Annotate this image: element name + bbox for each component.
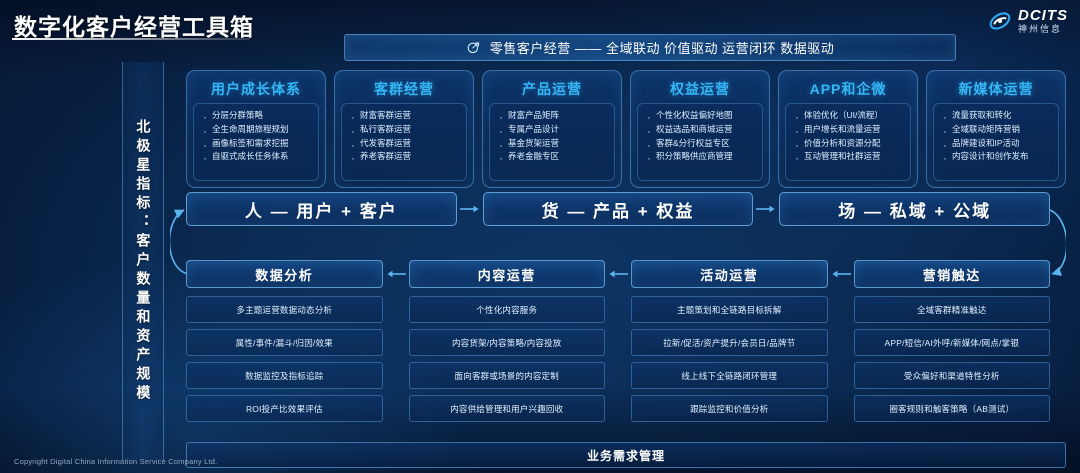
card-title: 用户成长体系 (193, 79, 319, 99)
card-list-item: 客群&分行权益专区 (644, 137, 758, 151)
card-list-item: 流量获取和转化 (940, 109, 1054, 123)
card-list-item: 画像标签和需求挖掘 (200, 137, 314, 151)
section-head-campaign-operation[interactable]: 活动运营 (631, 260, 828, 288)
card-title: 权益运营 (637, 79, 763, 99)
detail-cell[interactable]: 内容供给管理和用户兴趣回收 (409, 395, 606, 422)
card-item-list: 分层分群策略 全生命周期旅程规划 画像标签和需求挖掘 自驱式成长任务体系 (200, 109, 314, 164)
detail-cell[interactable]: 内容货架/内容策略/内容投放 (409, 329, 606, 356)
card-list-item: 分层分群策略 (200, 109, 314, 123)
flow-arrow-left-icon (383, 268, 409, 280)
flow-arrow-left-icon (828, 268, 854, 280)
logo-wordmark: DCITS 神州信息 (1018, 8, 1068, 34)
card-title: 产品运营 (489, 79, 615, 99)
detail-cell[interactable]: 线上线下全链路闭环管理 (631, 362, 828, 389)
card-list-item: 积分策略供应商管理 (644, 150, 758, 164)
dcits-swirl-logo-icon (988, 9, 1012, 33)
section-head-content-operation[interactable]: 内容运营 (409, 260, 606, 288)
detail-cell[interactable]: 圈客规则和触客策略（AB测试） (854, 395, 1051, 422)
headline-banner: 零售客户经营 —— 全域联动 价值驱动 运营闭环 数据驱动 (344, 34, 956, 61)
card-title: 新媒体运营 (933, 79, 1059, 99)
card-item-list: 财富客群运营 私行客群运营 代发客群运营 养老客群运营 (348, 109, 462, 164)
slide-root: 数字化客户经营工具箱 DCITS 神州信息 零售客户经营 —— 全域联动 价值驱… (0, 0, 1080, 473)
detail-cell[interactable]: 全域客群精准触达 (854, 296, 1051, 323)
card-list-item: 体验优化（UI/流程） (792, 109, 906, 123)
people-goods-field-row: 人 — 用户 + 客户 货 — 产品 + 权益 场 — 私域 + 公域 (186, 192, 1050, 226)
card-list-item: 代发客群运营 (348, 137, 462, 151)
logo-cn-text: 神州信息 (1018, 25, 1068, 34)
flow-arrow-right-icon (457, 203, 483, 215)
business-requirement-bar[interactable]: 业务需求管理 (186, 442, 1066, 468)
section-column-campaign-operation: 主题策划和全链路目标拆解 拉新/促活/资产提升/会员日/品牌节 线上线下全链路闭… (631, 296, 828, 422)
north-star-metric-band: 北极星指标：客户数量和资产规模 (122, 62, 164, 460)
copyright-text: Copyright Digital China Information Serv… (14, 457, 217, 466)
card-list-item: 财富客群运营 (348, 109, 462, 123)
card-title: 客群经营 (341, 79, 467, 99)
card-item-list: 财富产品矩阵 专属产品设计 基金货架运营 养老金融专区 (496, 109, 610, 164)
capability-card[interactable]: 客群经营 财富客群运营 私行客群运营 代发客群运营 养老客群运营 (334, 70, 474, 188)
card-list-item: 用户增长和流量运营 (792, 123, 906, 137)
capability-card[interactable]: 新媒体运营 流量获取和转化 全域联动矩阵营销 品牌建设和IP活动 内容设计和创作… (926, 70, 1066, 188)
card-body: 流量获取和转化 全域联动矩阵营销 品牌建设和IP活动 内容设计和创作发布 (933, 103, 1059, 181)
card-body: 分层分群策略 全生命周期旅程规划 画像标签和需求挖掘 自驱式成长任务体系 (193, 103, 319, 181)
section-column-marketing-reach: 全域客群精准触达 APP/短信/AI外呼/新媒体/网点/掌银 受众偏好和渠道特性… (854, 296, 1051, 422)
detail-cell[interactable]: 面向客群或场景的内容定制 (409, 362, 606, 389)
flow-box-field[interactable]: 场 — 私域 + 公域 (779, 192, 1050, 226)
detail-cell[interactable]: 拉新/促活/资产提升/会员日/品牌节 (631, 329, 828, 356)
operation-heads-row: 数据分析 内容运营 活动运营 营销触达 (186, 260, 1050, 288)
card-list-item: 品牌建设和IP活动 (940, 137, 1054, 151)
section-head-data-analysis[interactable]: 数据分析 (186, 260, 383, 288)
card-list-item: 基金货架运营 (496, 137, 610, 151)
card-list-item: 养老客群运营 (348, 150, 462, 164)
flow-box-people[interactable]: 人 — 用户 + 客户 (186, 192, 457, 226)
north-star-metric-label: 北极星指标：客户数量和资产规模 (136, 119, 151, 404)
card-item-list: 体验优化（UI/流程） 用户增长和流量运营 价值分析和资源分配 互动管理和社群运… (792, 109, 906, 164)
card-body: 个性化权益偏好地图 权益选品和商城运营 客群&分行权益专区 积分策略供应商管理 (637, 103, 763, 181)
card-body: 财富客群运营 私行客群运营 代发客群运营 养老客群运营 (341, 103, 467, 181)
card-list-item: 养老金融专区 (496, 150, 610, 164)
title-underline (12, 38, 250, 40)
card-list-item: 权益选品和商城运营 (644, 123, 758, 137)
banner-text: 零售客户经营 —— 全域联动 价值驱动 运营闭环 数据驱动 (490, 38, 835, 57)
card-list-item: 个性化权益偏好地图 (644, 109, 758, 123)
section-column-content-operation: 个性化内容服务 内容货架/内容策略/内容投放 面向客群或场景的内容定制 内容供给… (409, 296, 606, 422)
section-column-data-analysis: 多主题运营数据动态分析 属性/事件/漏斗/归因/效果 数据监控及指标追踪 ROI… (186, 296, 383, 422)
detail-cell[interactable]: 主题策划和全链路目标拆解 (631, 296, 828, 323)
card-list-item: 内容设计和创作发布 (940, 150, 1054, 164)
capability-card[interactable]: APP和企微 体验优化（UI/流程） 用户增长和流量运营 价值分析和资源分配 互… (778, 70, 918, 188)
card-list-item: 私行客群运营 (348, 123, 462, 137)
section-head-marketing-reach[interactable]: 营销触达 (854, 260, 1051, 288)
card-list-item: 价值分析和资源分配 (792, 137, 906, 151)
detail-cell[interactable]: ROI投产比效果评估 (186, 395, 383, 422)
detail-cell[interactable]: 数据监控及指标追踪 (186, 362, 383, 389)
capability-card[interactable]: 用户成长体系 分层分群策略 全生命周期旅程规划 画像标签和需求挖掘 自驱式成长任… (186, 70, 326, 188)
detail-cell[interactable]: 个性化内容服务 (409, 296, 606, 323)
capability-cards-row: 用户成长体系 分层分群策略 全生命周期旅程规划 画像标签和需求挖掘 自驱式成长任… (186, 70, 1066, 188)
detail-cell[interactable]: 跟踪监控和价值分析 (631, 395, 828, 422)
card-list-item: 专属产品设计 (496, 123, 610, 137)
detail-cell[interactable]: 多主题运营数据动态分析 (186, 296, 383, 323)
page-title: 数字化客户经营工具箱 (14, 8, 254, 42)
detail-cell[interactable]: 受众偏好和渠道特性分析 (854, 362, 1051, 389)
capability-card[interactable]: 产品运营 财富产品矩阵 专属产品设计 基金货架运营 养老金融专区 (482, 70, 622, 188)
logo-en-text: DCITS (1018, 8, 1068, 23)
capability-card[interactable]: 权益运营 个性化权益偏好地图 权益选品和商城运营 客群&分行权益专区 积分策略供… (630, 70, 770, 188)
flow-arrow-right-icon (753, 203, 779, 215)
card-item-list: 流量获取和转化 全域联动矩阵营销 品牌建设和IP活动 内容设计和创作发布 (940, 109, 1054, 164)
card-list-item: 全生命周期旅程规划 (200, 123, 314, 137)
detail-cell[interactable]: 属性/事件/漏斗/归因/效果 (186, 329, 383, 356)
target-arrow-icon (466, 40, 481, 55)
card-item-list: 个性化权益偏好地图 权益选品和商城运营 客群&分行权益专区 积分策略供应商管理 (644, 109, 758, 164)
card-list-item: 财富产品矩阵 (496, 109, 610, 123)
card-body: 体验优化（UI/流程） 用户增长和流量运营 价值分析和资源分配 互动管理和社群运… (785, 103, 911, 181)
closed-loop-flow: 人 — 用户 + 客户 货 — 产品 + 权益 场 — 私域 + 公域 数据分析 (170, 192, 1066, 440)
card-title: APP和企微 (785, 79, 911, 99)
detail-cell[interactable]: APP/短信/AI外呼/新媒体/网点/掌银 (854, 329, 1051, 356)
card-list-item: 自驱式成长任务体系 (200, 150, 314, 164)
card-body: 财富产品矩阵 专属产品设计 基金货架运营 养老金融专区 (489, 103, 615, 181)
card-list-item: 全域联动矩阵营销 (940, 123, 1054, 137)
card-list-item: 互动管理和社群运营 (792, 150, 906, 164)
section-detail-grid: 多主题运营数据动态分析 属性/事件/漏斗/归因/效果 数据监控及指标追踪 ROI… (186, 296, 1050, 422)
brand-logo: DCITS 神州信息 (988, 8, 1068, 34)
flow-arrow-left-icon (605, 268, 631, 280)
flow-box-goods[interactable]: 货 — 产品 + 权益 (483, 192, 754, 226)
